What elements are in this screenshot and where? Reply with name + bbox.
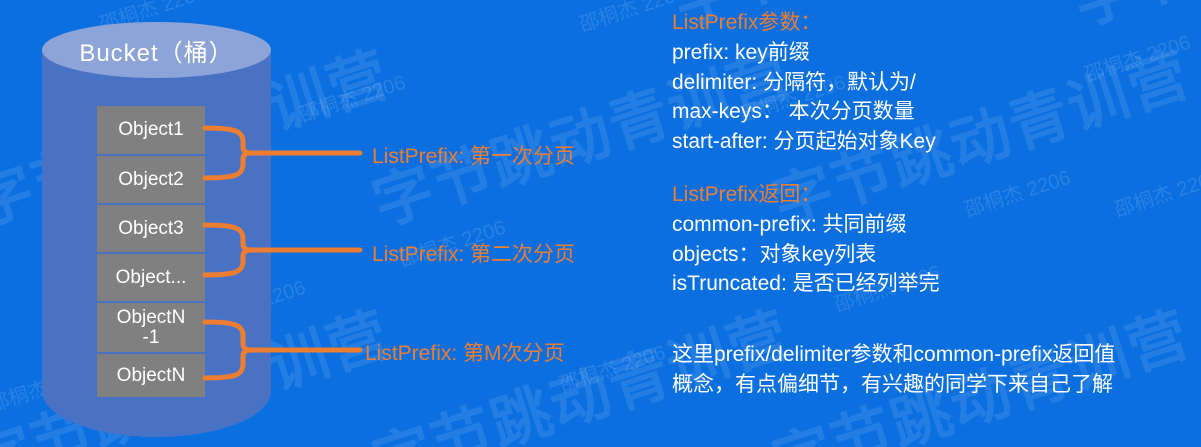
pagination-label-2: ListPrefix: 第二次分页 — [372, 238, 575, 268]
params-line: delimiter: 分隔符，默认为/ — [672, 68, 1192, 98]
returns-line: common-prefix: 共同前缀 — [672, 210, 1192, 240]
pagination-label-3: ListPrefix: 第M次分页 — [365, 337, 565, 367]
watermark-user: 邵桐杰 2206 — [555, 336, 669, 398]
note-block: 这里prefix/delimiter参数和common-prefix返回值 概念… — [672, 340, 1192, 401]
object-box[interactable]: ObjectN — [97, 353, 205, 398]
note-line: 这里prefix/delimiter参数和common-prefix返回值 — [672, 340, 1192, 370]
params-heading: ListPrefix参数： — [672, 8, 1192, 38]
object-box[interactable]: ObjectN -1 — [97, 302, 205, 353]
slide-canvas: 字节跳动青训营 字节跳动青训营 字节跳动青训营 字节跳动青训营 字节跳动青训营 … — [0, 0, 1201, 447]
watermark-user: 邵桐杰 2206 — [295, 66, 409, 128]
returns-line: objects：对象key列表 — [672, 240, 1192, 270]
object-box[interactable]: Object2 — [97, 155, 205, 204]
object-box[interactable]: Object... — [97, 253, 205, 302]
params-block: ListPrefix参数： prefix: key前缀 delimiter: 分… — [672, 8, 1192, 157]
returns-block: ListPrefix返回： common-prefix: 共同前缀 object… — [672, 180, 1192, 299]
object-box[interactable]: Object3 — [97, 204, 205, 253]
returns-heading: ListPrefix返回： — [672, 180, 1192, 210]
bucket-title: Bucket（桶） — [42, 22, 271, 78]
params-line: max-keys： 本次分页数量 — [672, 97, 1192, 127]
params-line: start-after: 分页起始对象Key — [672, 127, 1192, 157]
returns-line: isTruncated: 是否已经列举完 — [672, 269, 1192, 299]
object-stack: Object1 Object2 Object3 Object... Object… — [97, 105, 205, 398]
pagination-label-1: ListPrefix: 第一次分页 — [372, 140, 575, 170]
object-box[interactable]: Object1 — [97, 105, 205, 155]
params-line: prefix: key前缀 — [672, 38, 1192, 68]
note-line: 概念，有点偏细节，有兴趣的同学下来自己了解 — [672, 370, 1192, 400]
